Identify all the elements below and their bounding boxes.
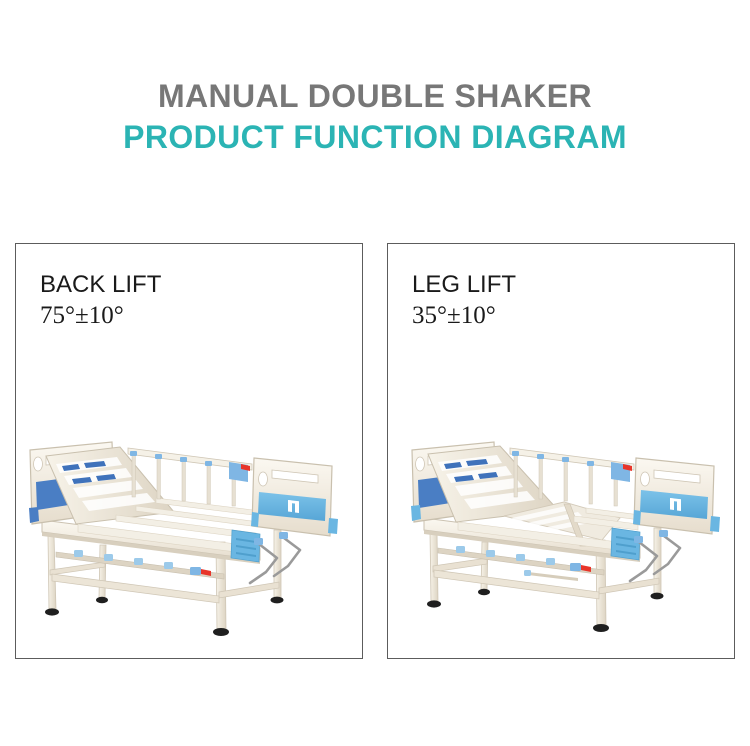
footboard: [633, 458, 720, 534]
bed-illustration-leg-lift: [388, 420, 736, 650]
title-line-secondary: PRODUCT FUNCTION DIAGRAM: [0, 116, 750, 158]
function-angle: 75°±10°: [40, 300, 161, 332]
function-label: BACK LIFT: [40, 270, 161, 300]
bed-illustration-back-lift: [16, 420, 364, 650]
caster-foot: [96, 597, 108, 603]
caster-foot: [593, 624, 609, 632]
panel-back-lift: BACK LIFT 75°±10°: [15, 243, 363, 659]
panel-leg-lift: LEG LIFT 35°±10°: [387, 243, 735, 659]
caster-foot: [213, 628, 229, 636]
footboard: [251, 458, 338, 536]
crank-control-box: [231, 530, 260, 562]
product-function-diagram-page: MANUAL DOUBLE SHAKER PRODUCT FUNCTION DI…: [0, 0, 750, 746]
caption-back-lift: BACK LIFT 75°±10°: [40, 270, 161, 332]
crank-control-box: [611, 528, 640, 560]
caption-leg-lift: LEG LIFT 35°±10°: [412, 270, 516, 332]
page-title: MANUAL DOUBLE SHAKER PRODUCT FUNCTION DI…: [0, 76, 750, 158]
caster-foot: [45, 608, 59, 615]
caster-foot: [427, 600, 441, 607]
title-line-primary: MANUAL DOUBLE SHAKER: [0, 76, 750, 116]
function-angle: 35°±10°: [412, 300, 516, 332]
caster-foot: [478, 589, 490, 595]
function-label: LEG LIFT: [412, 270, 516, 300]
caster-foot: [651, 593, 664, 600]
caster-foot: [271, 597, 284, 604]
